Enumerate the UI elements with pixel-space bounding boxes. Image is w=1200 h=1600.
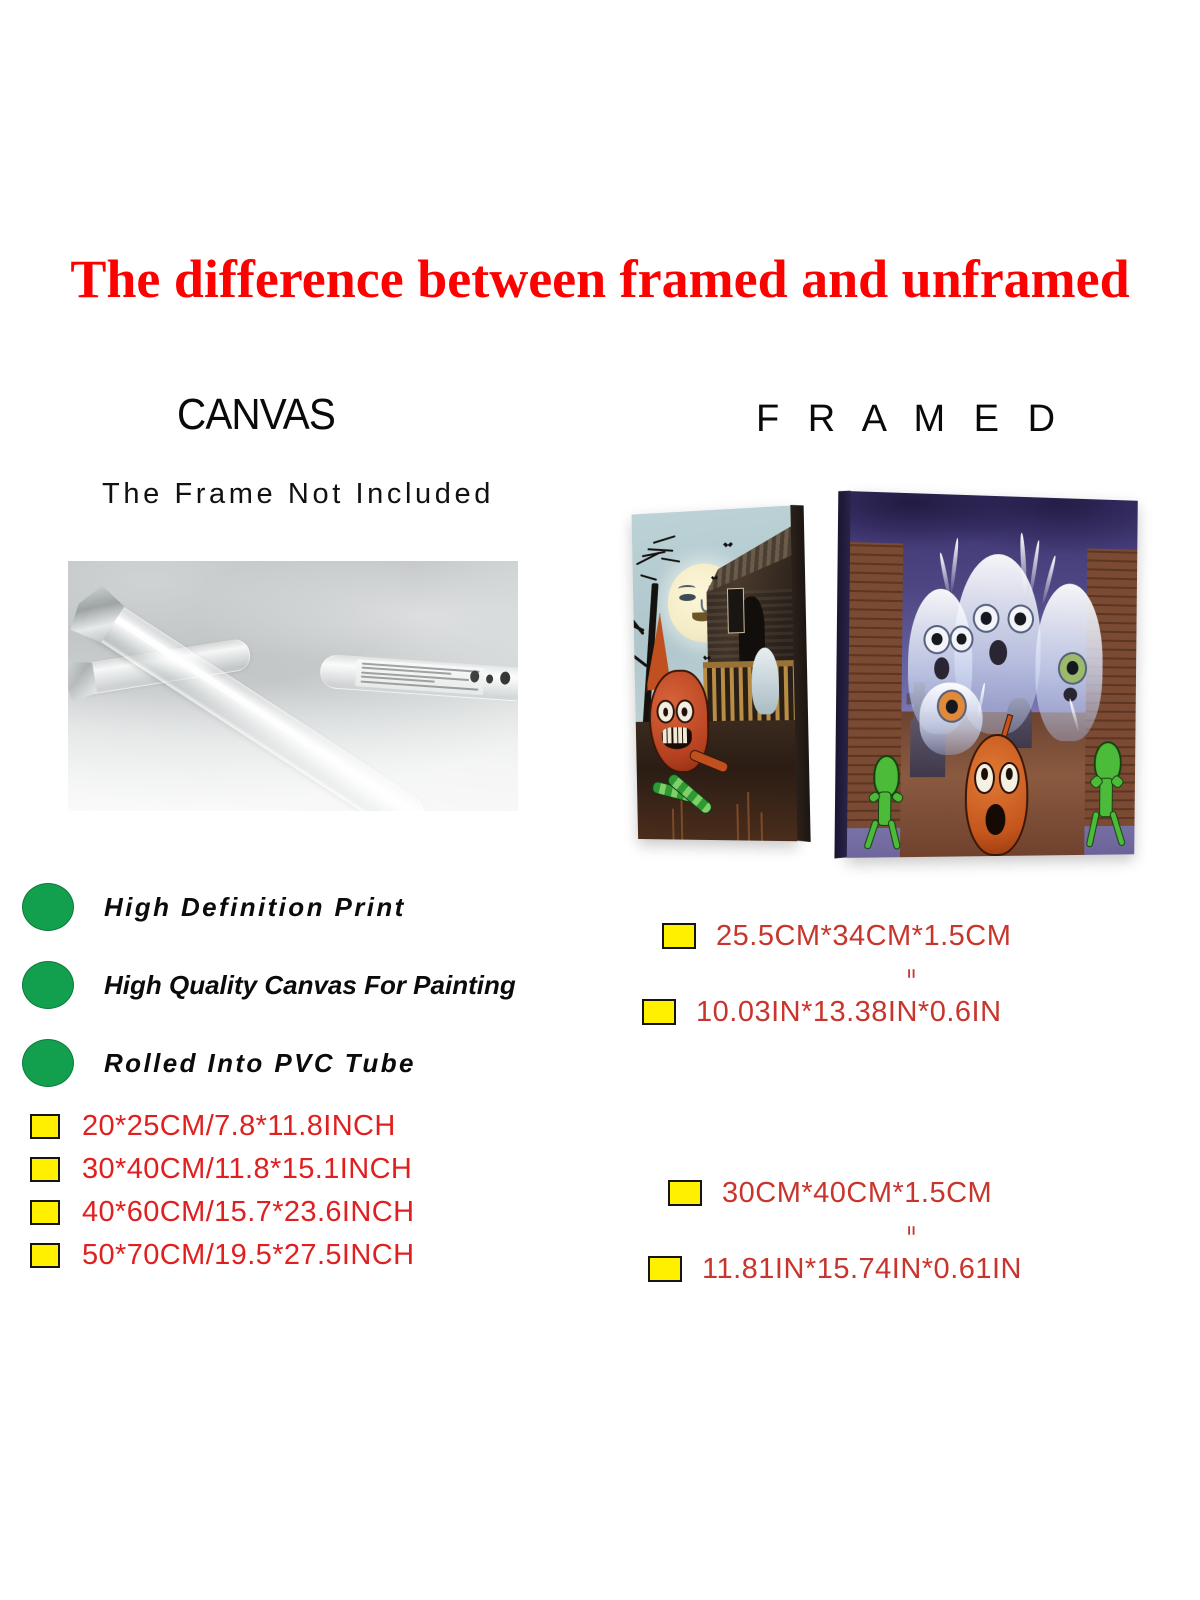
list-item: 30CM*40CM*1.5CM (668, 1172, 1200, 1214)
canvas-artwork-2 (847, 491, 1138, 858)
yellow-checkbox-icon (668, 1180, 702, 1206)
ghost-eye (1058, 652, 1088, 685)
size-label: 30*40CM/11.8*15.1INCH (82, 1153, 412, 1186)
green-bullet-icon (22, 1039, 74, 1087)
list-item: 50*70CM/19.5*27.5INCH (0, 1234, 620, 1277)
size-label: 50*70CM/19.5*27.5INCH (82, 1239, 414, 1272)
yellow-checkbox-icon (30, 1114, 60, 1139)
feature-label: Rolled Into PVC Tube (104, 1048, 416, 1079)
green-bullet-icon (22, 883, 74, 931)
green-bullet-icon (22, 961, 74, 1009)
infographic-page: The difference between framed and unfram… (0, 0, 1200, 1600)
lantern-icon (727, 588, 744, 634)
goblin-right (1084, 741, 1127, 848)
list-item: 10.03IN*13.38IN*0.6IN (642, 991, 1200, 1033)
size-label: 20*25CM/7.8*11.8INCH (82, 1110, 396, 1143)
framed-canvas-artwork (620, 490, 1200, 870)
ghost-eye (949, 625, 974, 653)
list-item: Rolled Into PVC Tube (0, 1024, 600, 1102)
ghost-eye (923, 624, 951, 654)
framed-dimension-block-2: 30CM*40CM*1.5CM = 11.81IN*15.74IN*0.61IN (620, 1172, 1200, 1290)
feature-label: High Definition Print (104, 892, 406, 923)
yellow-checkbox-icon (30, 1157, 60, 1182)
list-item: 25.5CM*34CM*1.5CM (662, 915, 1200, 957)
yellow-checkbox-icon (30, 1243, 60, 1268)
list-item: High Definition Print (0, 868, 600, 946)
ghost-mouth (934, 657, 949, 679)
pvc-tube-photo (68, 561, 518, 811)
equals-sign: = (893, 1226, 927, 1237)
canvas-1-face (632, 506, 798, 842)
canvas-artwork-1 (632, 506, 798, 842)
page-title: The difference between framed and unfram… (0, 252, 1200, 306)
goblin-left (865, 755, 907, 850)
feature-label: High Quality Canvas For Painting (104, 970, 516, 1001)
yellow-checkbox-icon (30, 1200, 60, 1225)
canvas-feature-list: High Definition Print High Quality Canva… (0, 868, 600, 1102)
canvas-column-header: CANVAS (20, 390, 491, 440)
list-item: 40*60CM/15.7*23.6INCH (0, 1191, 620, 1234)
framed-column-header: F R A M E D (620, 398, 1200, 441)
list-item: 20*25CM/7.8*11.8INCH (0, 1105, 620, 1148)
ghost-eye (1007, 604, 1034, 634)
canvas-2-face (847, 491, 1138, 858)
list-item: 30*40CM/11.8*15.1INCH (0, 1148, 620, 1191)
list-item: High Quality Canvas For Painting (0, 946, 600, 1024)
framed-dimension-block-1: 25.5CM*34CM*1.5CM = 10.03IN*13.38IN*0.6I… (620, 915, 1200, 1033)
list-item: 11.81IN*15.74IN*0.61IN (648, 1248, 1200, 1290)
dimension-cm-label: 30CM*40CM*1.5CM (722, 1177, 992, 1210)
equals-sign: = (893, 969, 927, 980)
dimension-inch-label: 11.81IN*15.74IN*0.61IN (702, 1253, 1022, 1286)
dimension-inch-label: 10.03IN*13.38IN*0.6IN (696, 996, 1002, 1029)
red-creature (643, 642, 719, 814)
dimension-cm-label: 25.5CM*34CM*1.5CM (716, 920, 1011, 953)
yellow-checkbox-icon (648, 1256, 682, 1282)
photo-haze (68, 561, 518, 811)
yellow-checkbox-icon (662, 923, 696, 949)
yellow-checkbox-icon (642, 999, 676, 1025)
canvas-size-list: 20*25CM/7.8*11.8INCH 30*40CM/11.8*15.1IN… (0, 1105, 620, 1277)
size-label: 40*60CM/15.7*23.6INCH (82, 1196, 414, 1229)
screaming-pumpkin-creature (964, 734, 1028, 857)
canvas-subheader: The Frame Not Included (0, 478, 596, 511)
equals-row: = (620, 1214, 1200, 1248)
ghost-mouth (989, 640, 1006, 665)
equals-row: = (620, 957, 1200, 991)
